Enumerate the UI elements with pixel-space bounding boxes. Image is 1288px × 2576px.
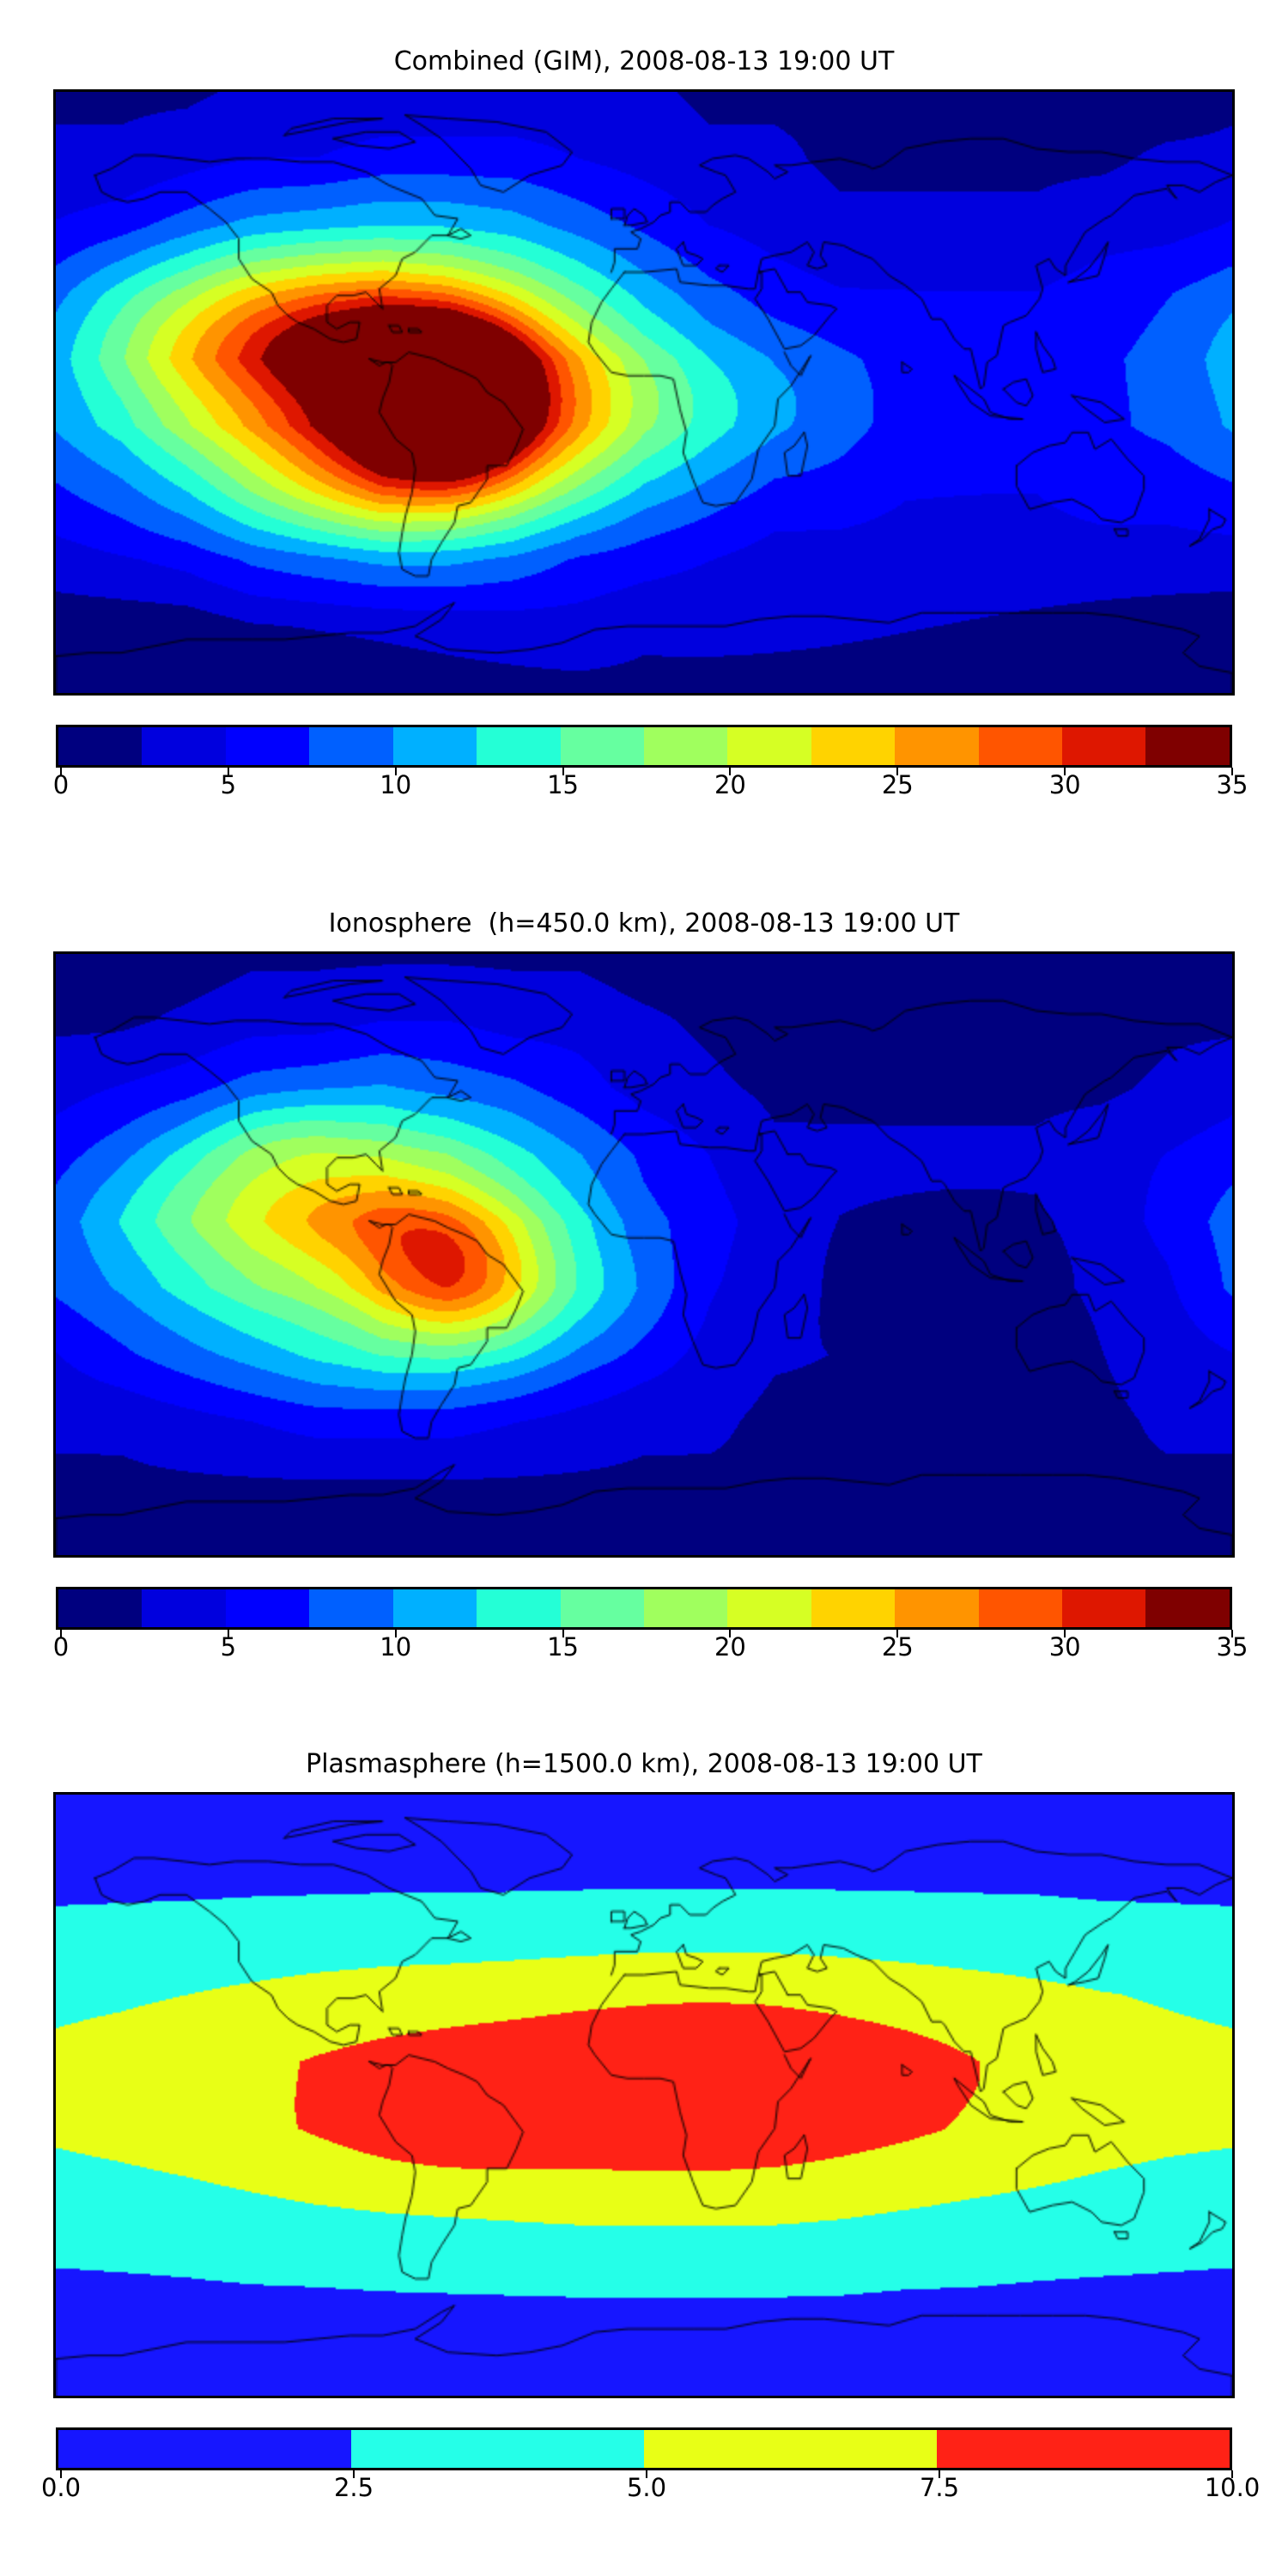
colorbar-strip-plasmasphere [56,2427,1232,2470]
colorbar-strip-combined-gim [56,725,1232,768]
colorbar-tick-label: 25 [882,768,914,802]
panel-plasmasphere: Plasmasphere (h=1500.0 km), 2008-08-13 1… [0,1747,1288,2510]
colorbar-tick-label: 15 [547,768,579,802]
colorbar-tick-label: 20 [714,768,746,802]
colorbar-segment [1145,727,1229,765]
colorbar-tick-label: 10 [380,768,411,802]
colorbar-segment [979,1589,1062,1627]
colorbar-segment [393,727,477,765]
colorbar-segment [979,727,1062,765]
colorbar-ionosphere: 05101520253035 [56,1587,1232,1669]
colorbar-tick-label: 5.0 [627,2470,666,2505]
colorbar-segment [644,1589,727,1627]
colorbar-segment [142,1589,225,1627]
colorbar-segment [727,727,811,765]
colorbar-segment [142,727,225,765]
colorbar-segment [309,727,392,765]
colorbar-segment [477,727,560,765]
panel-title-ionosphere: Ionosphere (h=450.0 km), 2008-08-13 19:0… [0,907,1288,941]
tec-maps-figure: Combined (GIM), 2008-08-13 19:00 UT 0510… [0,0,1288,2576]
colorbar-segment [58,727,142,765]
colorbar-tick-label: 35 [1217,768,1249,802]
panel-ionosphere: Ionosphere (h=450.0 km), 2008-08-13 19:0… [0,907,1288,1669]
colorbar-tick-label: 5 [221,768,236,802]
tec-contour-map-ionosphere [56,954,1232,1555]
colorbar-segment [644,727,727,765]
panel-combined-gim: Combined (GIM), 2008-08-13 19:00 UT 0510… [0,45,1288,807]
colorbar-ticklabels-plasmasphere: 0.02.55.07.510.0 [56,2470,1232,2510]
colorbar-tick-label: 0 [53,1630,69,1664]
tec-contour-map-plasmasphere [56,1795,1232,2396]
colorbar-tick-label: 15 [547,1630,579,1664]
colorbar-segment [226,727,309,765]
colorbar-segment [727,1589,811,1627]
colorbar-segment [58,1589,142,1627]
tec-contour-map-combined-gim [56,92,1232,693]
colorbar-tick-label: 10 [380,1630,411,1664]
colorbar-segment [1062,1589,1145,1627]
colorbar-tick-label: 30 [1049,768,1081,802]
colorbar-segment [309,1589,392,1627]
colorbar-combined-gim: 05101520253035 [56,725,1232,807]
colorbar-segment [895,1589,978,1627]
colorbar-plasmasphere: 0.02.55.07.510.0 [56,2427,1232,2510]
colorbar-segment [561,1589,644,1627]
colorbar-segment [58,2430,351,2468]
colorbar-segment [811,727,895,765]
colorbar-tick-label: 2.5 [334,2470,374,2505]
colorbar-segment [1062,727,1145,765]
colorbar-segment [937,2430,1230,2468]
map-axes-ionosphere [53,951,1235,1558]
colorbar-segment [477,1589,560,1627]
colorbar-segment [644,2430,937,2468]
colorbar-segment [811,1589,895,1627]
map-axes-combined-gim [53,89,1235,696]
colorbar-segment [226,1589,309,1627]
map-axes-plasmasphere [53,1792,1235,2398]
colorbar-segment [393,1589,477,1627]
colorbar-ticklabels-combined-gim: 05101520253035 [56,768,1232,807]
colorbar-tick-label: 30 [1049,1630,1081,1664]
colorbar-tick-label: 0 [53,768,69,802]
colorbar-segment [895,727,978,765]
colorbar-strip-ionosphere [56,1587,1232,1630]
colorbar-ticklabels-ionosphere: 05101520253035 [56,1630,1232,1669]
colorbar-segment [351,2430,644,2468]
colorbar-tick-label: 20 [714,1630,746,1664]
colorbar-tick-label: 35 [1217,1630,1249,1664]
colorbar-tick-label: 25 [882,1630,914,1664]
colorbar-tick-label: 0.0 [41,2470,81,2505]
colorbar-tick-label: 7.5 [920,2470,959,2505]
panel-title-combined-gim: Combined (GIM), 2008-08-13 19:00 UT [0,45,1288,79]
colorbar-segment [1145,1589,1229,1627]
colorbar-tick-label: 5 [221,1630,236,1664]
colorbar-segment [561,727,644,765]
panel-title-plasmasphere: Plasmasphere (h=1500.0 km), 2008-08-13 1… [0,1747,1288,1782]
colorbar-tick-label: 10.0 [1205,2470,1261,2505]
